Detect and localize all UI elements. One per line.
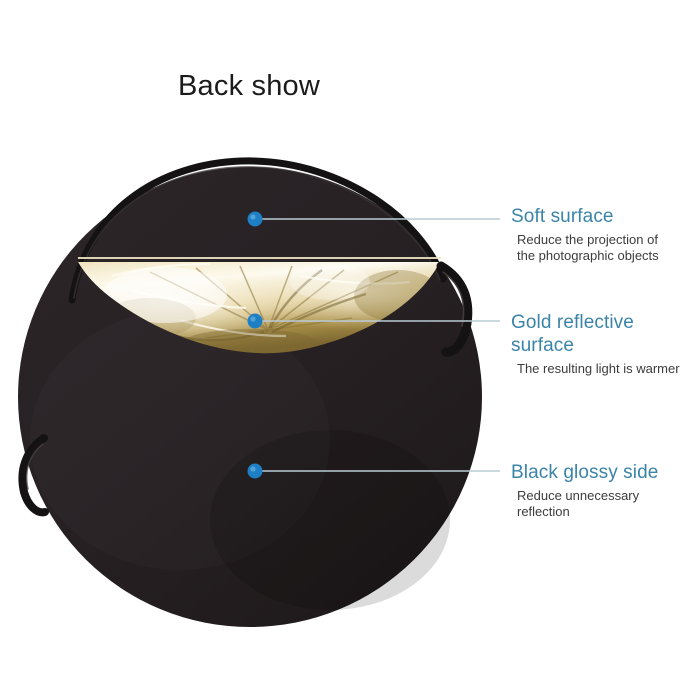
callout-heading-gold-reflective-surface: Gold reflective surface xyxy=(511,311,680,357)
callout-dot-black-side xyxy=(248,464,263,479)
callout-black-glossy-side: Black glossy side Reduce unnecessary ref… xyxy=(511,461,658,520)
callout-soft-surface: Soft surface Reduce the projection of th… xyxy=(511,205,659,264)
callout-heading-soft-surface: Soft surface xyxy=(511,205,659,228)
callout-dot-gold-surface xyxy=(248,314,263,329)
callout-gold-reflective-surface: Gold reflective surface The resulting li… xyxy=(511,311,680,377)
callout-description-black-glossy-side: Reduce unnecessary reflection xyxy=(517,488,658,520)
callout-heading-black-glossy-side: Black glossy side xyxy=(511,461,658,484)
callout-description-soft-surface: Reduce the projection of the photographi… xyxy=(517,232,659,264)
callout-description-gold-reflective-surface: The resulting light is warmer xyxy=(517,361,680,377)
callout-dot-soft-surface xyxy=(248,212,263,227)
infographic-page: Back show xyxy=(0,0,700,700)
